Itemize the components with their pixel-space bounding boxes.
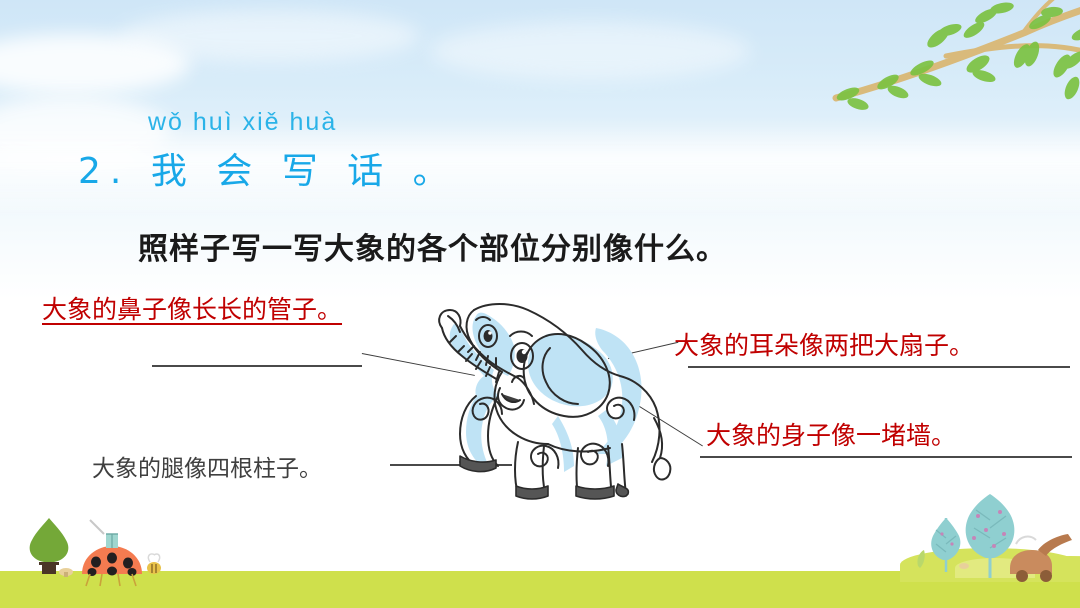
answer-legs[interactable]: 大象的腿像四根柱子。 [92,449,322,483]
tree-branch-decoration [826,0,1080,120]
bottom-left-decoration [14,516,234,588]
title-number: 2. [78,151,130,192]
instruction-text: 照样子写一写大象的各个部位分别像什么。 [138,224,727,268]
answer-body-rule [700,456,1072,458]
page-title: 2. 我 会 写 话 。 [78,142,458,194]
slide-canvas: wǒ huì xiě huà 2. 我 会 写 话 。 照样子写一写大象的各个部… [0,0,1080,608]
cloud-shape [120,10,420,62]
answer-ear[interactable]: 大象的耳朵像两把大扇子。 [674,328,974,364]
title-text: 我 会 写 话 。 [151,151,458,192]
answer-body[interactable]: 大象的身子像一堵墙。 [706,418,956,454]
elephant-illustration [418,276,708,516]
answer-trunk-rule [152,365,362,367]
answer-ear-rule [688,366,1070,368]
pinyin-label: wǒ huì xiě huà [148,108,337,137]
answer-trunk[interactable]: 大象的鼻子像长长的管子。 [42,292,372,328]
bottom-right-decoration [898,494,1080,586]
cloud-shape [430,22,750,80]
